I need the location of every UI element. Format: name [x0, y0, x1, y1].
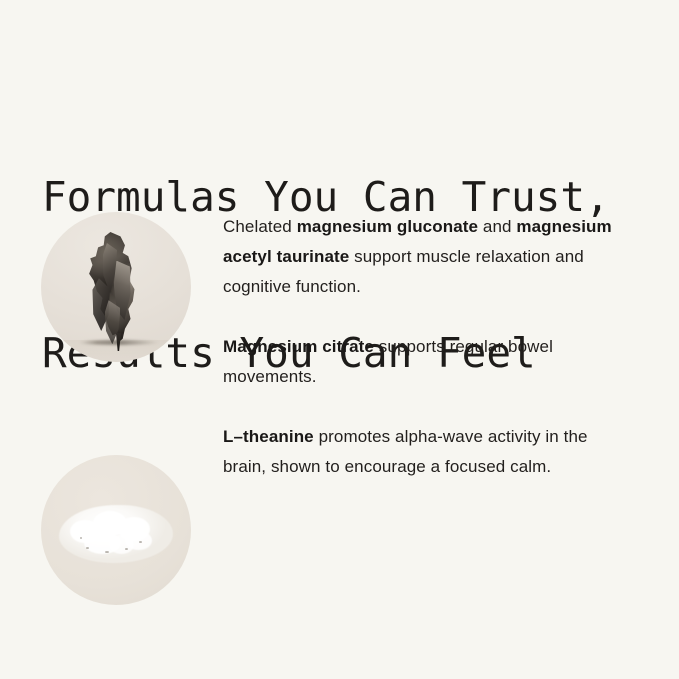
benefit-paragraph: Magnesium citrate supports regular bowel…: [223, 332, 615, 392]
ingredient-benefits-panel: Formulas You Can Trust, Results You Can …: [0, 0, 679, 679]
ingredient-name: Magnesium citrate: [223, 337, 374, 356]
powder-mound: [59, 505, 173, 563]
media-column: [41, 0, 191, 679]
benefit-paragraph: L–theanine promotes alpha-wave activity …: [223, 422, 615, 482]
white-powder-photo: [41, 455, 191, 605]
benefit-paragraph: Chelated magnesium gluconate and magnesi…: [223, 212, 615, 302]
powder-lump: [109, 535, 134, 554]
magnesium-mineral-photo: [41, 212, 191, 362]
benefits-copy: Chelated magnesium gluconate and magnesi…: [223, 212, 615, 482]
powder-grain: [139, 541, 142, 543]
mineral-chunk: [88, 232, 144, 342]
ingredient-name: magnesium gluconate: [297, 217, 478, 236]
ingredient-name: L–theanine: [223, 427, 314, 446]
benefit-text: Chelated: [223, 217, 297, 236]
benefit-text: and: [478, 217, 516, 236]
powder-grain: [125, 548, 128, 550]
